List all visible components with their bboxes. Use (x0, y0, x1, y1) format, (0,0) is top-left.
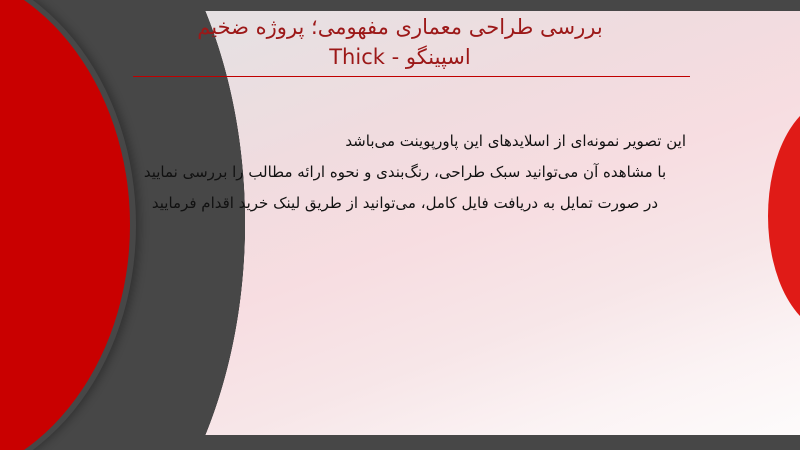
slide-title-line-2: اسپینگو - Thick (100, 42, 700, 72)
body-text-line-3: در صورت تمایل به دریافت فایل کامل، می‌تو… (120, 188, 690, 219)
title-underline-rule (133, 76, 690, 77)
presentation-slide: بررسی طراحی معماری مفهومی؛ پروژه ضخیم اس… (0, 0, 800, 450)
slide-title-line-1: بررسی طراحی معماری مفهومی؛ پروژه ضخیم (100, 12, 700, 42)
body-text-line-1: این تصویر نمونه‌ای از اسلایدهای این پاور… (120, 126, 690, 157)
slide-title: بررسی طراحی معماری مفهومی؛ پروژه ضخیم اس… (100, 12, 700, 72)
body-text-line-2: با مشاهده آن می‌توانید سبک طراحی، رنگ‌بن… (120, 157, 690, 188)
slide-content: بررسی طراحی معماری مفهومی؛ پروژه ضخیم اس… (0, 0, 800, 450)
slide-body-text: این تصویر نمونه‌ای از اسلایدهای این پاور… (120, 126, 690, 219)
